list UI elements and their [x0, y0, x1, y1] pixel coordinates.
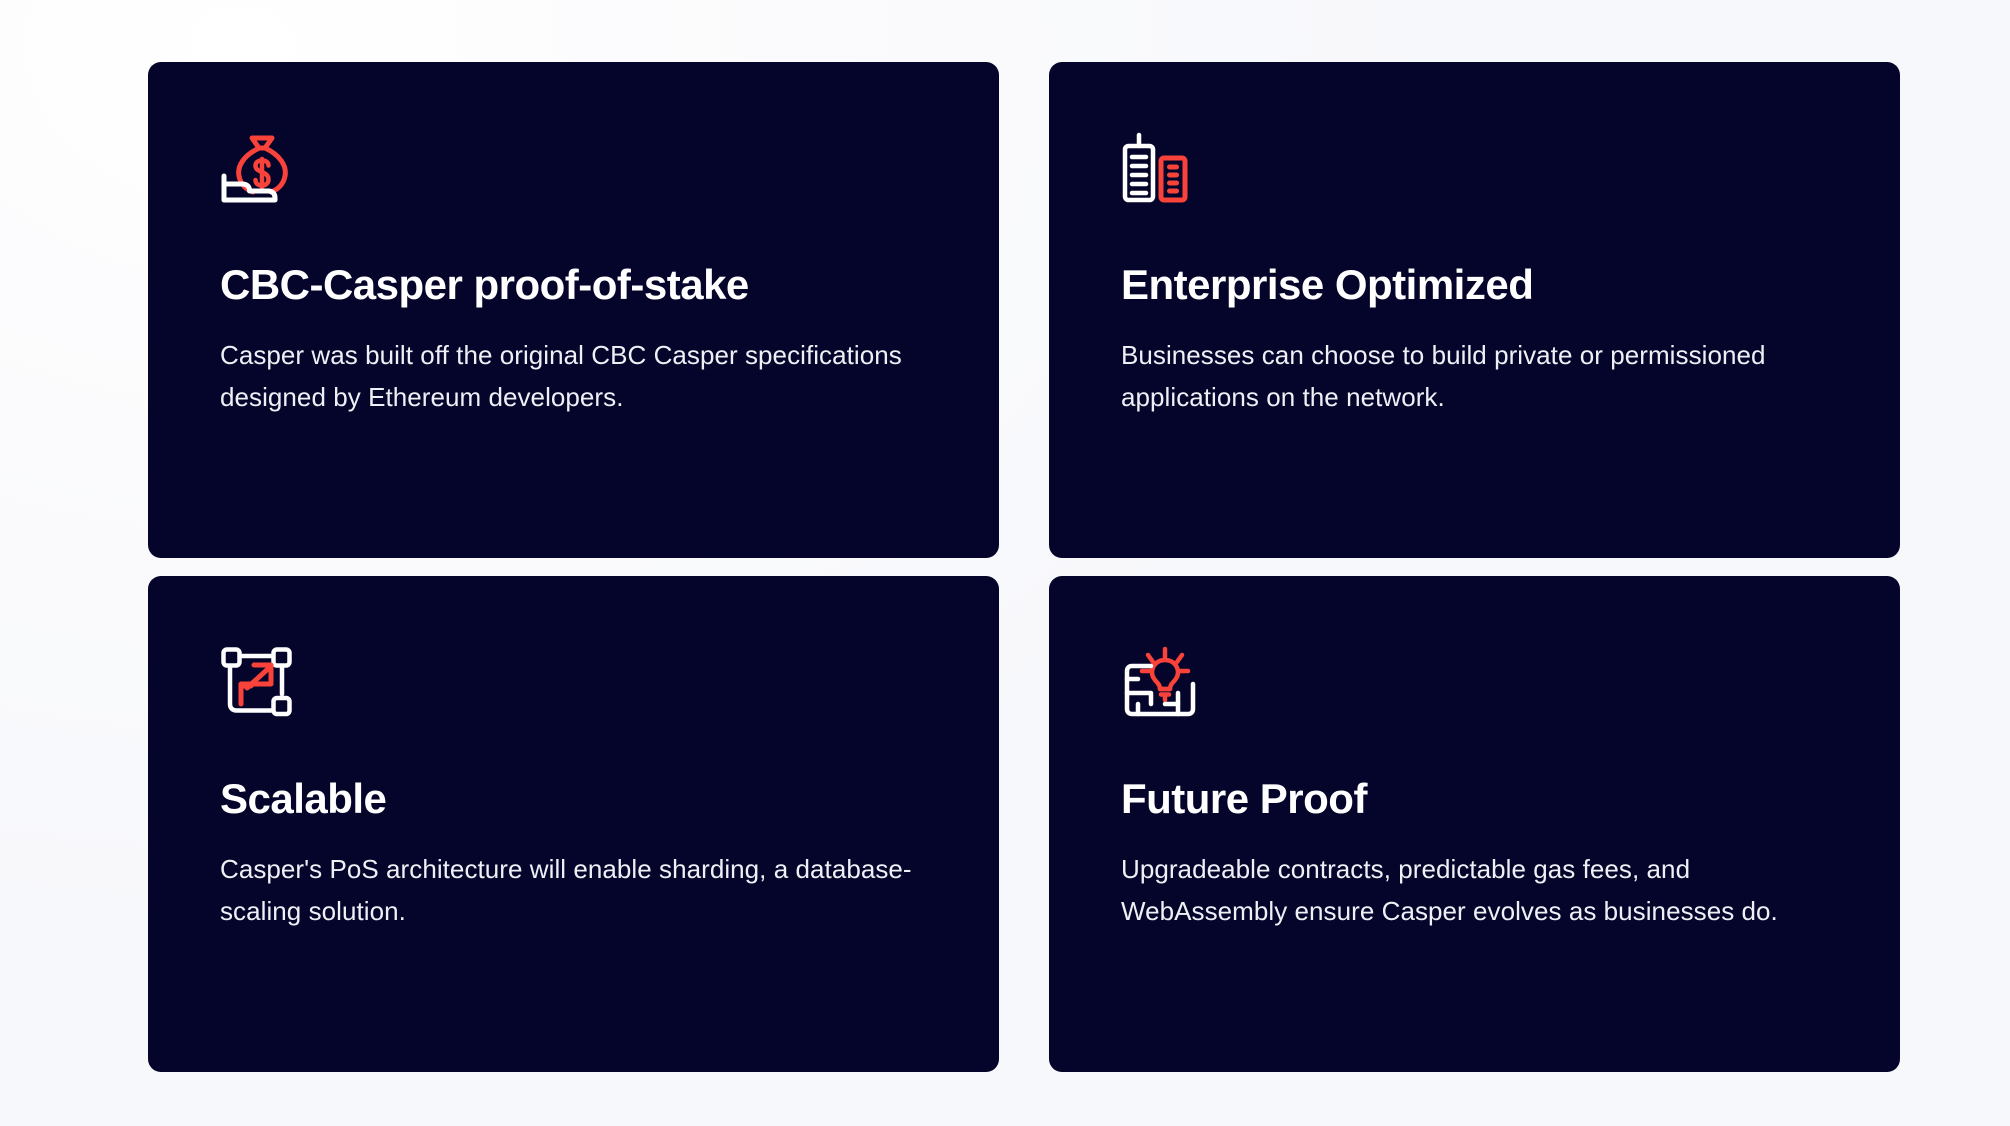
- feature-description: Upgradeable contracts, predictable gas f…: [1121, 848, 1821, 932]
- money-bag-icon: [220, 132, 302, 210]
- feature-description: Businesses can choose to build private o…: [1121, 334, 1821, 418]
- feature-card-scalable[interactable]: Scalable Casper's PoS architecture will …: [148, 576, 999, 1072]
- feature-card-future-proof[interactable]: Future Proof Upgradeable contracts, pred…: [1049, 576, 1900, 1072]
- office-buildings-icon: [1121, 132, 1203, 210]
- feature-description: Casper was built off the original CBC Ca…: [220, 334, 920, 418]
- features-grid: CBC-Casper proof-of-stake Casper was bui…: [148, 62, 1900, 1072]
- feature-title: CBC-Casper proof-of-stake: [220, 262, 927, 308]
- feature-card-cbc-casper[interactable]: CBC-Casper proof-of-stake Casper was bui…: [148, 62, 999, 558]
- feature-title: Scalable: [220, 776, 927, 822]
- lightbulb-blueprint-icon: [1121, 646, 1203, 724]
- feature-title: Future Proof: [1121, 776, 1828, 822]
- feature-title: Enterprise Optimized: [1121, 262, 1828, 308]
- feature-card-enterprise-optimized[interactable]: Enterprise Optimized Businesses can choo…: [1049, 62, 1900, 558]
- feature-description: Casper's PoS architecture will enable sh…: [220, 848, 920, 932]
- scale-arrow-icon: [220, 646, 302, 724]
